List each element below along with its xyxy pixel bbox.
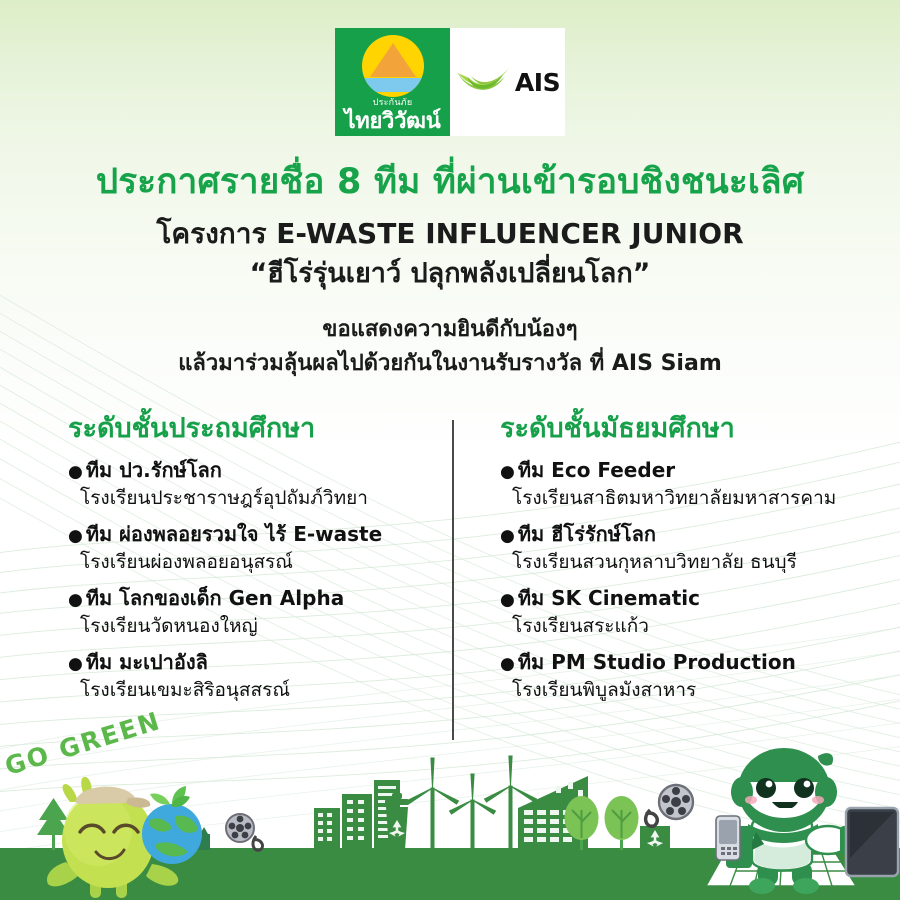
team-name-row: ● ทีม ฮีโร่รักษ์โลก (500, 522, 890, 549)
team-school-label: โรงเรียนสาธิตมหาวิทยาลัยมหาสารคาม (500, 485, 890, 511)
building-icon (342, 794, 372, 850)
ais-swoosh-icon (455, 64, 511, 100)
smartphone-icon (716, 816, 752, 868)
congrats-line-2: แล้วมาร่วมลุ้นผลไปด้วยกันในงานรับรางวัล … (0, 348, 900, 380)
column-secondary-title: ระดับชั้นมัธยมศึกษา (500, 412, 890, 446)
team-name-row: ● ทีม PM Studio Production (500, 650, 890, 677)
team-name-row: ● ทีม SK Cinematic (500, 586, 890, 613)
project-name: โครงการ E-WASTE INFLUENCER JUNIOR (0, 216, 900, 252)
tree-icon (605, 796, 639, 850)
team-name-label: ทีม Eco Feeder (518, 458, 675, 483)
team-name-row: ● ทีม มะเปาอังลิ (68, 650, 440, 677)
ais-logo: AIS (450, 28, 565, 136)
team-entry: ● ทีม PM Studio Production โรงเรียนพิบูล… (500, 650, 890, 703)
team-name-label: ทีม ผ่องพลอยรวมใจ ไร้ E-waste (86, 522, 382, 547)
building-icon (314, 808, 340, 850)
bullet-icon: ● (68, 524, 83, 549)
bullet-icon: ● (68, 460, 83, 485)
pavilion-emblem-icon (362, 35, 424, 97)
ais-wordmark: AIS (515, 68, 560, 97)
page-title: ประกาศรายชื่อ 8 ทีม ที่ผ่านเข้ารอบชิงชนะ… (0, 160, 900, 204)
bullet-icon: ● (500, 460, 515, 485)
wind-turbine-icon (407, 758, 459, 850)
team-name-label: ทีม ฮีโร่รักษ์โลก (518, 522, 656, 547)
logo-row: ประกันภัย ไทยวิวัฒน์ AIS (0, 28, 900, 136)
team-school-label: โรงเรียนผ่องพลอยอนุสรณ์ (68, 549, 440, 575)
poster-root: ประกันภัย ไทยวิวัฒน์ AIS ประกาศรายชื่อ 8… (0, 0, 900, 900)
team-columns: ระดับชั้นประถมศึกษา ● ทีม ปว.รักษ์โลก โร… (0, 412, 900, 714)
team-entry: ● ทีม ปว.รักษ์โลก โรงเรียนประชาราษฎร์อุป… (68, 458, 440, 511)
team-school-label: โรงเรียนวัดหนองใหญ่ (68, 613, 440, 639)
team-name-row: ● ทีม โลกของเด็ก Gen Alpha (68, 586, 440, 613)
wind-turbine-icon (450, 774, 496, 850)
column-divider (452, 420, 454, 740)
team-name-label: ทีม โลกของเด็ก Gen Alpha (86, 586, 344, 611)
team-entry: ● ทีม Eco Feeder โรงเรียนสาธิตมหาวิทยาลั… (500, 458, 890, 511)
team-entry: ● ทีม ฮีโร่รักษ์โลก โรงเรียนสวนกุหลาบวิท… (500, 522, 890, 575)
leaf-shape (150, 793, 170, 804)
team-school-label: โรงเรียนสวนกุหลาบวิทยาลัย ธนบุรี (500, 549, 890, 575)
bullet-icon: ● (500, 588, 515, 613)
thaivivat-brand-text: ไทยวิวัฒน์ (345, 109, 441, 134)
bullet-icon: ● (500, 524, 515, 549)
congrats-line-1: ขอแสดงความยินดีกับน้องๆ (0, 314, 900, 346)
bullet-icon: ● (68, 588, 83, 613)
team-name-label: ทีม ปว.รักษ์โลก (86, 458, 222, 483)
thaivivat-logo: ประกันภัย ไทยวิวัฒน์ (335, 28, 450, 136)
film-reel-icon (646, 785, 693, 826)
team-name-row: ● ทีม Eco Feeder (500, 458, 890, 485)
congratulations-block: ขอแสดงความยินดีกับน้องๆ แล้วมาร่วมลุ้นผล… (0, 314, 900, 380)
film-reel-icon (226, 814, 262, 850)
team-name-row: ● ทีม ปว.รักษ์โลก (68, 458, 440, 485)
team-entry: ● ทีม ผ่องพลอยรวมใจ ไร้ E-waste โรงเรียน… (68, 522, 440, 575)
team-school-label: โรงเรียนประชาราษฎร์อุปถัมภ์วิทยา (68, 485, 440, 511)
eco-city-scene (0, 740, 900, 900)
pavilion-roof-shape (370, 43, 416, 77)
team-school-label: โรงเรียนพิบูลมังสาหาร (500, 677, 890, 703)
bottom-illustration: GO GREEN (0, 740, 900, 900)
team-school-label: โรงเรียนสระแก้ว (500, 613, 890, 639)
recycle-bin-icon (385, 793, 409, 850)
bullet-icon: ● (500, 652, 515, 677)
column-primary: ระดับชั้นประถมศึกษา ● ทีม ปว.รักษ์โลก โร… (0, 412, 450, 714)
project-slogan: “ฮีโร่รุ่นเยาว์ ปลุกพลังเปลี่ยนโลก” (0, 256, 900, 292)
team-name-row: ● ทีม ผ่องพลอยรวมใจ ไร้ E-waste (68, 522, 440, 549)
thaivivat-small-text: ประกันภัย (373, 98, 413, 109)
team-name-label: ทีม PM Studio Production (518, 650, 796, 675)
recycle-symbol-icon (640, 826, 670, 850)
column-secondary: ระดับชั้นมัธยมศึกษา ● ทีม Eco Feeder โรง… (450, 412, 900, 714)
team-name-label: ทีม SK Cinematic (518, 586, 700, 611)
bullet-icon: ● (68, 652, 83, 677)
column-primary-title: ระดับชั้นประถมศึกษา (68, 412, 440, 446)
team-entry: ● ทีม มะเปาอังลิ โรงเรียนเขมะสิริอนุสสรณ… (68, 650, 440, 703)
team-name-label: ทีม มะเปาอังลิ (86, 650, 208, 675)
team-school-label: โรงเรียนเขมะสิริอนุสสรณ์ (68, 677, 440, 703)
team-entry: ● ทีม โลกของเด็ก Gen Alpha โรงเรียนวัดหน… (68, 586, 440, 639)
team-entry: ● ทีม SK Cinematic โรงเรียนสระแก้ว (500, 586, 890, 639)
water-shape (362, 78, 424, 92)
globe-with-sprout-icon (142, 786, 202, 864)
robot-mascot-icon (706, 748, 898, 894)
